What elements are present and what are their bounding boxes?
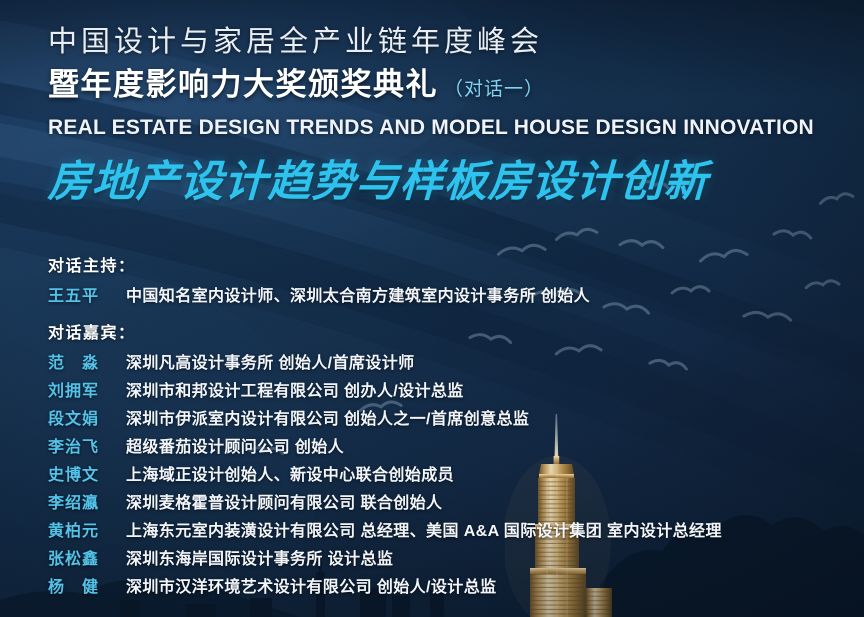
guest-title: 深圳市伊派室内设计有限公司 创始人之一/首席创意总监 xyxy=(126,405,529,429)
topic-title: 房地产设计趋势与样板房设计创新 xyxy=(47,147,864,209)
guest-title: 深圳东海岸国际设计事务所 设计总监 xyxy=(126,545,393,569)
guest-row: 杨 健 深圳市汉洋环境艺术设计有限公司 创始人/设计总监 xyxy=(48,573,864,597)
guest-title: 上海域正设计创始人、新设中心联合创始成员 xyxy=(126,461,454,485)
guest-title: 深圳市和邦设计工程有限公司 创办人/设计总监 xyxy=(126,377,464,401)
main-title: 暨年度影响力大奖颁奖典礼 xyxy=(48,67,438,102)
guest-row: 李治飞 超级番茄设计顾问公司 创始人 xyxy=(48,433,864,457)
english-subtitle: REAL ESTATE DESIGN TRENDS AND MODEL HOUS… xyxy=(48,116,864,140)
event-poster: 中国设计与家居全产业链年度峰会 暨年度影响力大奖颁奖典礼（对话一） REAL E… xyxy=(0,0,864,617)
guest-title: 深圳市汉洋环境艺术设计有限公司 创始人/设计总监 xyxy=(126,573,497,597)
poster-content: 中国设计与家居全产业链年度峰会 暨年度影响力大奖颁奖典礼（对话一） REAL E… xyxy=(0,0,864,597)
main-title-row: 暨年度影响力大奖颁奖典礼（对话一） xyxy=(48,67,864,104)
guest-name: 李绍瀛 xyxy=(48,489,126,513)
host-row: 王五平 中国知名室内设计师、深圳太合南方建筑室内设计事务所 创始人 xyxy=(48,282,864,306)
guest-name: 李治飞 xyxy=(48,433,126,457)
guest-name: 段文娟 xyxy=(48,405,126,429)
guest-name: 张松鑫 xyxy=(48,545,126,569)
guest-title: 上海东元室内装潢设计有限公司 总经理、美国 A&A 国际设计集团 室内设计总经理 xyxy=(126,517,722,541)
roster-spacer xyxy=(48,310,864,319)
session-tag: （对话一） xyxy=(444,79,544,100)
guest-name: 史博文 xyxy=(48,461,126,485)
guest-name: 杨 健 xyxy=(48,573,126,597)
guest-row: 黄柏元 上海东元室内装潢设计有限公司 总经理、美国 A&A 国际设计集团 室内设… xyxy=(48,517,864,541)
guest-row: 范 淼 深圳凡高设计事务所 创始人/首席设计师 xyxy=(48,349,864,373)
roster: 对话主持： 王五平 中国知名室内设计师、深圳太合南方建筑室内设计事务所 创始人 … xyxy=(48,252,864,597)
guest-name: 刘拥军 xyxy=(48,377,126,401)
guest-row: 张松鑫 深圳东海岸国际设计事务所 设计总监 xyxy=(48,545,864,569)
guest-row: 史博文 上海域正设计创始人、新设中心联合创始成员 xyxy=(48,461,864,485)
host-name: 王五平 xyxy=(48,282,126,306)
guest-row: 刘拥军 深圳市和邦设计工程有限公司 创办人/设计总监 xyxy=(48,377,864,401)
guest-name: 黄柏元 xyxy=(48,517,126,541)
guest-heading: 对话嘉宾： xyxy=(48,319,864,343)
guest-title: 深圳麦格霍普设计顾问有限公司 联合创始人 xyxy=(126,489,442,513)
supertitle: 中国设计与家居全产业链年度峰会 xyxy=(48,24,864,61)
guest-row: 李绍瀛 深圳麦格霍普设计顾问有限公司 联合创始人 xyxy=(48,489,864,513)
host-title: 中国知名室内设计师、深圳太合南方建筑室内设计事务所 创始人 xyxy=(126,282,590,306)
guest-title: 深圳凡高设计事务所 创始人/首席设计师 xyxy=(126,349,415,373)
guest-row: 段文娟 深圳市伊派室内设计有限公司 创始人之一/首席创意总监 xyxy=(48,405,864,429)
guest-name: 范 淼 xyxy=(48,349,126,373)
guest-title: 超级番茄设计顾问公司 创始人 xyxy=(126,433,344,457)
host-heading: 对话主持： xyxy=(48,252,864,276)
